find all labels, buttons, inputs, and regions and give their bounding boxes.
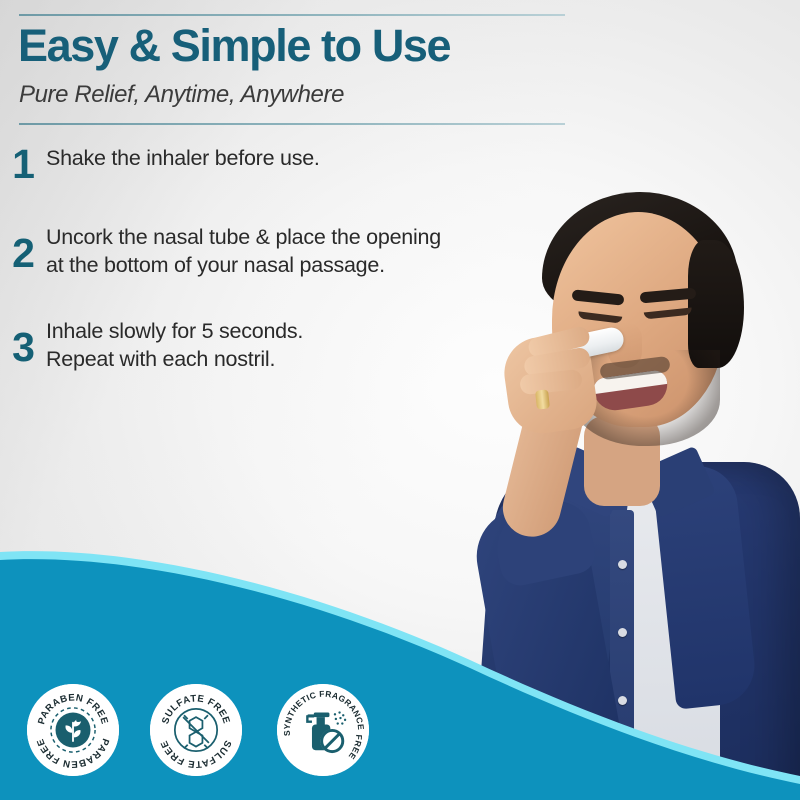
step-number: 3 [0, 315, 46, 368]
header-rule-top [19, 14, 565, 16]
leaf-plant-icon [51, 708, 95, 752]
step-item: 1 Shake the inhaler before use. [0, 142, 580, 185]
wave-fill [0, 559, 800, 800]
teal-wave-decoration [0, 500, 800, 800]
step-item: 3 Inhale slowly for 5 seconds. Repeat wi… [0, 315, 580, 373]
step-number: 1 [0, 142, 46, 185]
promo-infographic: Easy & Simple to Use Pure Relief, Anytim… [0, 0, 800, 800]
step-item: 2 Uncork the nasal tube & place the open… [0, 221, 580, 279]
step-text: Shake the inhaler before use. [46, 142, 320, 173]
badge-synthetic-fragrance-free: SYNTHETIC FRAGRANCE FREE [277, 684, 369, 776]
header-rule-bottom [19, 123, 565, 125]
badge-paraben-free: PARABEN FREE PARABEN FREE [27, 684, 119, 776]
steps-list: 1 Shake the inhaler before use. 2 Uncork… [0, 142, 580, 409]
page-title: Easy & Simple to Use [18, 22, 450, 70]
step-text: Inhale slowly for 5 seconds. Repeat with… [46, 315, 303, 373]
step-text: Uncork the nasal tube & place the openin… [46, 221, 441, 279]
badge-sulfate-free: SULFATE FREE SULFATE FREE [150, 684, 242, 776]
step-number: 2 [0, 221, 46, 274]
page-subtitle: Pure Relief, Anytime, Anywhere [19, 81, 344, 109]
